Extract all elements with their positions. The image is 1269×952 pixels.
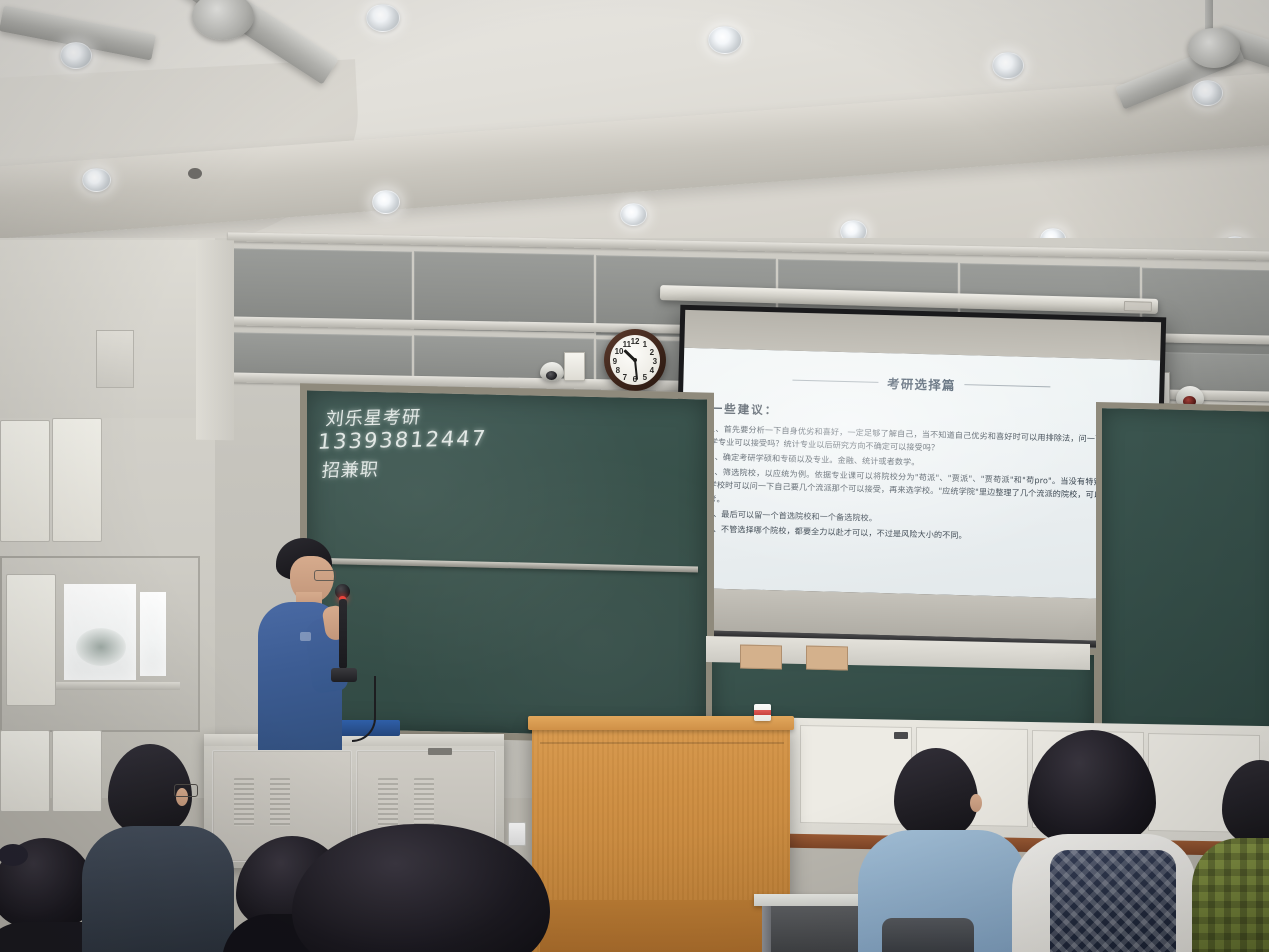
wall-door-panel [52,418,102,542]
classroom-scene: 安全出口 EXIT 12 1 2 3 4 5 6 7 8 9 10 11 [0,0,1269,952]
screen-housing-endcap [1124,301,1152,312]
wall-plate [96,330,134,388]
lectern-front-seam [540,742,784,744]
slide-title-row: 考研选择篇 [683,368,1159,399]
audience-member-front-hair [292,824,558,952]
window-glass [64,584,136,680]
ceiling-vent [188,168,202,179]
slide-title-rule-right [965,384,1051,387]
slide-title-rule-left [792,380,878,383]
ceiling-downlight [366,4,400,32]
shirt-logo [300,632,311,641]
left-wall-upper [0,240,196,418]
wall-panel [232,248,412,327]
slide-content: 考研选择篇 一些建议： 1、首先要分析一下自身优劣和喜好，一定足够了解自己，当不… [678,348,1160,600]
clock-number: 1 [643,341,647,349]
clock-number: 2 [650,349,654,357]
blackboard-far-right [1096,402,1269,748]
wall-cabinet-panel [806,646,848,671]
desk-leg [762,906,771,952]
blackboard-text-line: 13393812447 [317,426,489,454]
wall-clock: 12 1 2 3 4 5 6 7 8 9 10 11 [604,329,666,391]
cabinet-vent [414,778,434,826]
glasses-icon [174,784,198,797]
lectern-base [540,900,784,952]
projection-screen: 考研选择篇 一些建议： 1、首先要分析一下自身优劣和喜好，一定足够了解自己，当不… [672,305,1166,648]
window [0,556,200,732]
clock-number: 7 [623,374,627,382]
ceiling-downlight [1192,80,1223,106]
audience-vest-pattern [1050,850,1176,952]
window-sill [50,682,180,690]
cabinet-vent [270,778,290,826]
clock-number: 8 [616,367,620,375]
window-lower-panel [6,574,56,706]
tree-outside [76,628,126,666]
cabinet-logo [428,748,452,755]
audience-ear [970,794,982,812]
audience-head [894,748,978,840]
clock-center-pin [633,358,637,362]
audience-shoulders [1192,838,1269,952]
audience-member-patterned-vest [1006,730,1206,952]
ceiling-fan-left [40,0,400,110]
blackboard-text-line: 刘乐星考研 [325,403,423,431]
wall-sensor [894,732,908,739]
chair-back [882,918,974,952]
ceiling-downlight [708,26,742,54]
clock-number: 3 [653,358,657,366]
cabinet-vent [234,778,254,826]
audience-head [1222,760,1269,846]
slide-title: 考研选择篇 [887,373,956,394]
clock-number: 5 [643,374,647,382]
audience-hair [1028,730,1156,848]
ceiling-downlight [60,42,92,69]
fan-hub [1188,28,1240,68]
wall-door-panel [0,420,50,542]
paper-cup[interactable] [754,704,771,721]
wall-cabinet-panel [740,645,782,670]
clock-number: 11 [623,341,631,349]
clock-number: 9 [613,358,617,366]
cup-label-band [754,710,771,715]
ceiling-downlight [372,190,400,214]
clock-face: 12 1 2 3 4 5 6 7 8 9 10 11 [610,335,661,386]
ceiling-fan-right [1060,0,1269,130]
audience-shoulders [82,826,234,952]
wall-column [196,240,234,441]
cabinet-vent [378,778,398,826]
window-glass-side [140,592,166,676]
audience-member-plaid [1192,760,1269,952]
ceiling-downlight [992,52,1024,79]
wall-door-panel [0,730,50,812]
blackboard-text-line: 招兼职 [321,455,381,482]
ceiling-downlight [620,203,647,226]
audience-member-glasses [86,744,212,952]
camera-info-card [564,352,585,381]
audience-hair [292,824,550,952]
clock-number: 12 [631,338,640,346]
security-camera [540,362,564,381]
camera-lens [546,371,557,380]
ceiling-downlight [82,168,111,192]
clock-number: 10 [615,348,624,356]
microphone-body[interactable] [339,599,347,669]
glasses-icon [314,570,336,581]
clock-number: 4 [650,367,654,375]
